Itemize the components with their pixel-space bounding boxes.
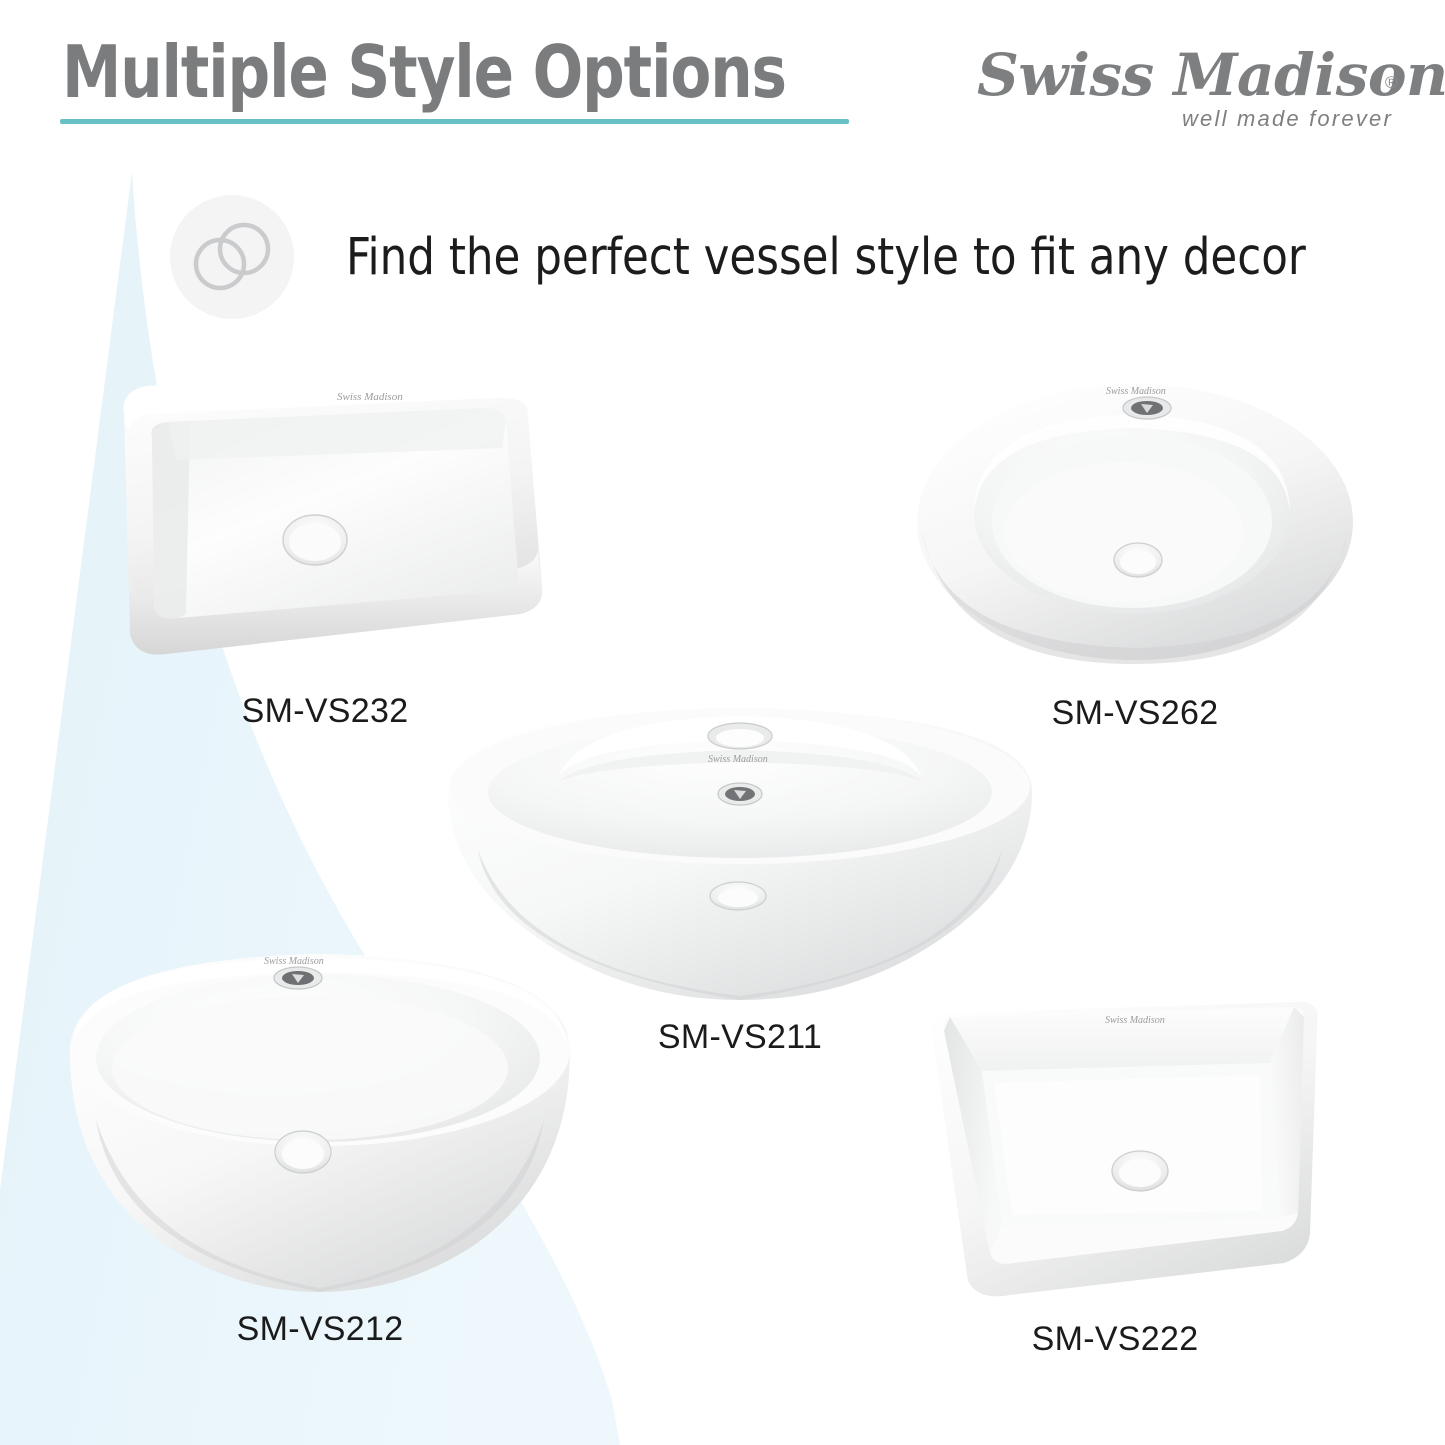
brand-wordmark: Swiss Madison® <box>977 44 1397 106</box>
round-rolled-rim-vessel-sink-image: Swiss Madison <box>910 372 1360 682</box>
brand-name: Swiss Madison <box>977 41 1445 109</box>
tapered-square-basin-image: Swiss Madison <box>890 975 1340 1310</box>
square-vessel-sink-image: Swiss Madison <box>90 352 560 682</box>
page-title: Multiple Style Options <box>62 33 786 111</box>
product-vs232[interactable]: Swiss Madison SM-VS232 <box>90 352 560 752</box>
subtitle-icon-badge <box>170 195 294 319</box>
product-vs262[interactable]: Swiss Madison SM-VS262 <box>910 372 1360 752</box>
subtitle-row: Find the perfect vessel style to fit any… <box>170 192 1356 322</box>
registered-mark-icon: ® <box>1385 52 1397 114</box>
round-bowl-vessel-sink-image: Swiss Madison <box>60 940 580 1300</box>
product-label-vs212: SM-VS212 <box>60 1310 580 1349</box>
subtitle-text: Find the perfect vessel style to fit any… <box>346 228 1306 287</box>
svg-text:Swiss Madison: Swiss Madison <box>1106 386 1166 397</box>
brand-logo: Swiss Madison® well made forever <box>977 44 1397 140</box>
svg-text:Swiss Madison: Swiss Madison <box>708 754 768 765</box>
svg-text:Swiss Madison: Swiss Madison <box>264 956 324 967</box>
title-underline <box>60 119 849 124</box>
product-label-vs222: SM-VS222 <box>890 1320 1340 1359</box>
brand-tagline: well made forever <box>1182 106 1393 132</box>
product-vs222[interactable]: Swiss Madison SM-VS222 <box>890 975 1340 1375</box>
two-overlapping-circles-icon <box>189 220 275 294</box>
header: Multiple Style Options Swiss Madison® we… <box>0 0 1445 160</box>
svg-text:Swiss Madison: Swiss Madison <box>337 391 403 403</box>
svg-text:Swiss Madison: Swiss Madison <box>1105 1015 1165 1026</box>
infographic-canvas: Multiple Style Options Swiss Madison® we… <box>0 0 1445 1445</box>
product-vs212[interactable]: Swiss Madison SM-VS212 <box>60 940 580 1360</box>
